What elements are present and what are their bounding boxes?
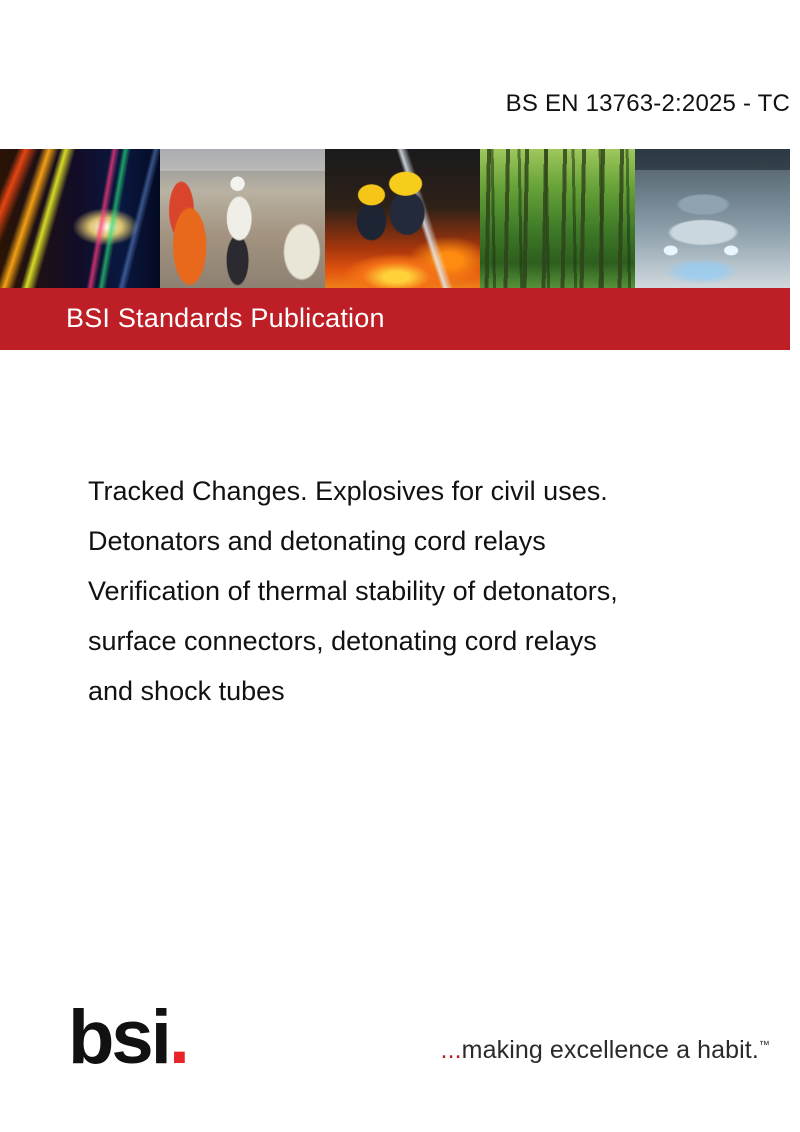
bsi-logo-dot: . [169, 995, 187, 1080]
trademark-icon: ™ [759, 1040, 770, 1052]
bsi-logo: bsi. [68, 1000, 187, 1076]
bsi-tagline: ...making excellence a habit.™ [441, 1036, 770, 1065]
publication-banner: BSI Standards Publication [0, 288, 790, 350]
photo-panel-warehouse-worker [160, 149, 325, 288]
tagline-ellipsis: ... [441, 1036, 462, 1064]
tagline-text: making excellence a habit [462, 1036, 752, 1064]
photo-panel-firefighters [325, 149, 480, 288]
publication-banner-label: BSI Standards Publication [66, 303, 385, 334]
tagline-period: . [752, 1036, 759, 1064]
title-line: Verification of thermal stability of det… [88, 566, 760, 616]
photo-panel-forest [480, 149, 635, 288]
title-line: Detonators and detonating cord relays [88, 516, 760, 566]
photo-panel-car-production-line [635, 149, 790, 288]
title-line: surface connectors, detonating cord rela… [88, 616, 760, 666]
photo-strip [0, 149, 790, 288]
document-title: Tracked Changes. Explosives for civil us… [88, 466, 760, 716]
page-footer: bsi. ...making excellence a habit.™ [0, 1000, 800, 1090]
bsi-logo-wordmark: bsi [68, 995, 169, 1080]
title-line: Tracked Changes. Explosives for civil us… [88, 466, 760, 516]
photo-panel-night-traffic-light-trails [0, 149, 160, 288]
title-line: and shock tubes [88, 666, 760, 716]
document-cover-page: { "header": { "standard_number": "BS EN … [0, 0, 800, 1132]
standard-number: BS EN 13763-2:2025 - TC [0, 90, 790, 118]
